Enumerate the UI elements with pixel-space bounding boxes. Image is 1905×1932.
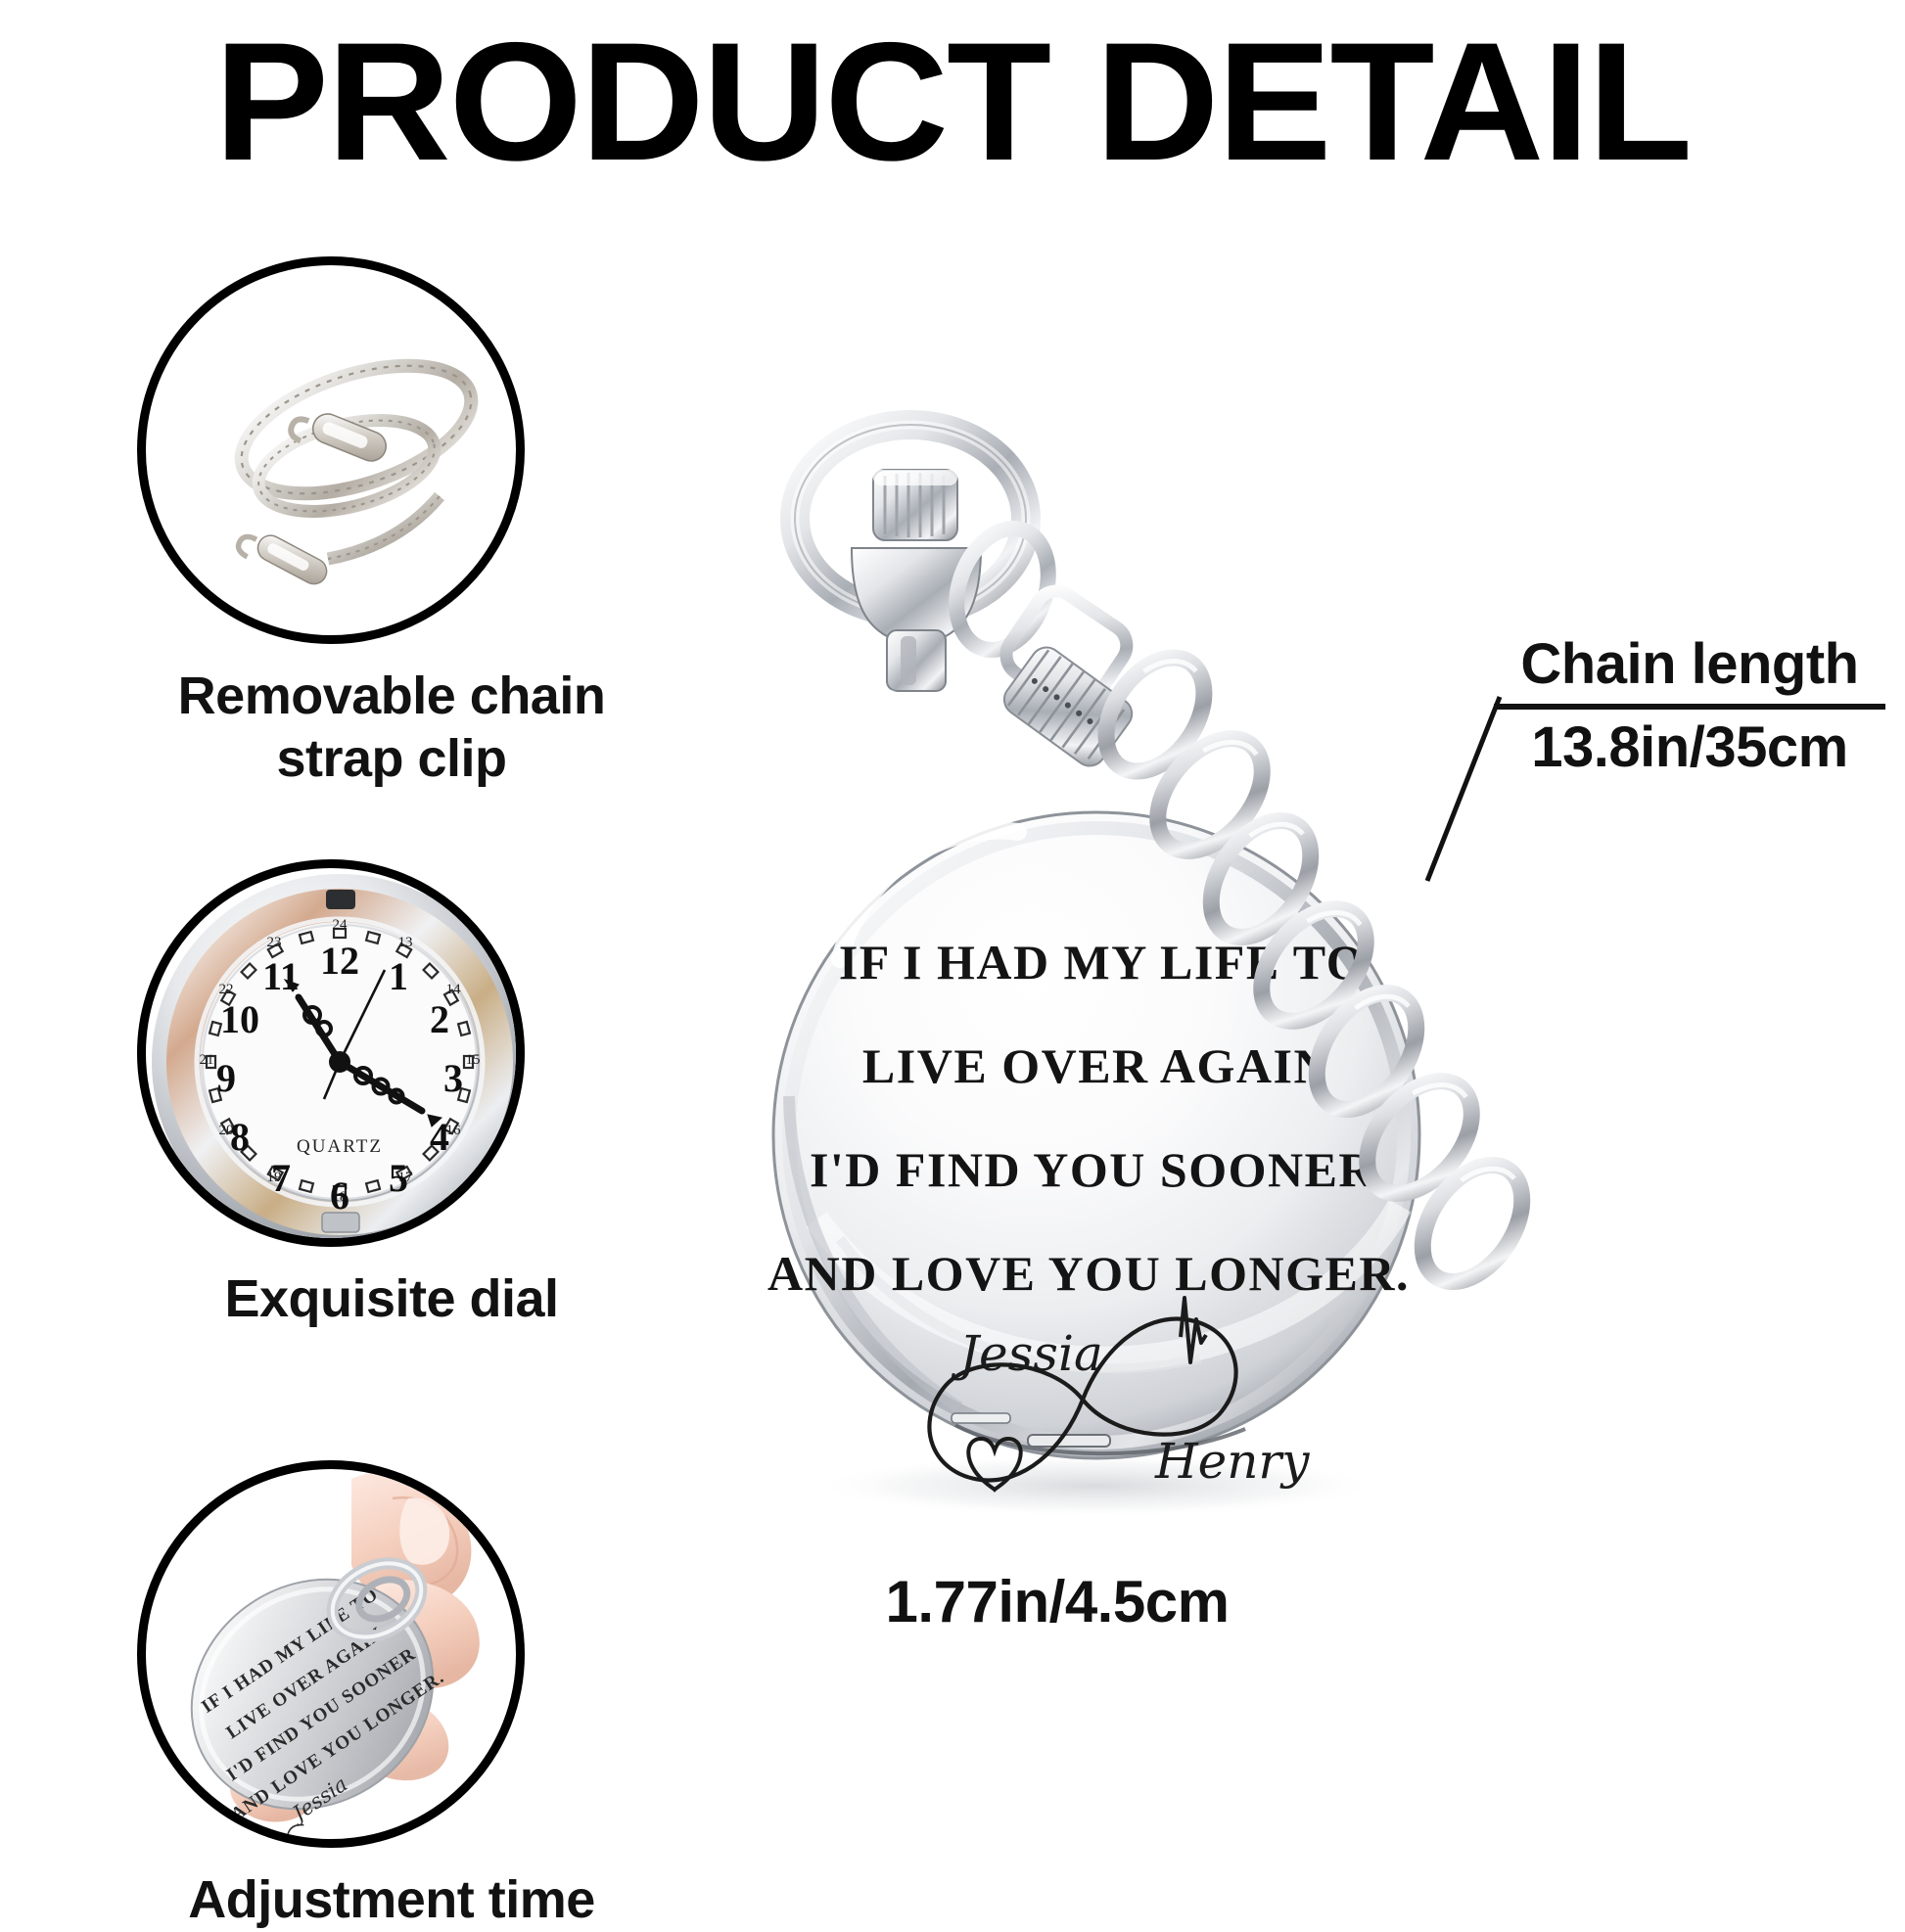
engraved-name-left: Jessia <box>951 1325 1103 1382</box>
svg-text:3: 3 <box>443 1056 463 1100</box>
product-image-pocket-watch: IF I HAD MY LIFE TO LIVE OVER AGAIN I'D … <box>607 411 1684 1517</box>
svg-text:8: 8 <box>230 1115 250 1159</box>
product-detail-page: PRODUCT DETAIL <box>0 0 1905 1905</box>
svg-text:23: 23 <box>267 935 282 950</box>
dial-brand-text: QUARTZ <box>297 1136 383 1157</box>
callout-leader-line <box>1410 685 1605 900</box>
svg-text:24: 24 <box>333 917 348 933</box>
hand-holding-watch-icon: IF I HAD MY LIFE TO LIVE OVER AGAIN I'D … <box>137 1460 525 1848</box>
svg-text:5: 5 <box>389 1156 408 1200</box>
engraving-line-3: I'D FIND YOU SOONER <box>810 1142 1375 1197</box>
feature-caption-line1: Adjustment time <box>78 1869 705 1932</box>
svg-text:1: 1 <box>389 954 408 998</box>
svg-text:21: 21 <box>200 1052 214 1068</box>
dimension-case-diameter: 1.77in/4.5cm <box>744 1568 1371 1635</box>
feature-removable-chain-strap-clip: Removable chain strap clip <box>137 256 525 644</box>
engraving-line-4: AND LOVE YOU LONGER. <box>767 1246 1410 1301</box>
svg-text:2: 2 <box>430 997 449 1041</box>
svg-text:12: 12 <box>320 939 359 983</box>
engraved-name-right: Henry <box>1154 1433 1310 1490</box>
watch-crown <box>873 470 957 540</box>
svg-text:14: 14 <box>446 982 462 997</box>
feature-adjustment-time: IF I HAD MY LIFE TO LIVE OVER AGAIN I'D … <box>137 1460 525 1848</box>
svg-text:15: 15 <box>466 1052 481 1068</box>
page-title: PRODUCT DETAIL <box>0 18 1905 186</box>
svg-text:7: 7 <box>271 1156 291 1200</box>
watch-dial-illustration: 24 13 14 15 16 17 18 19 20 21 22 23 12 1 <box>146 868 525 1247</box>
svg-text:10: 10 <box>220 997 259 1041</box>
feature-caption: Adjustment time <box>78 1869 705 1932</box>
svg-text:11: 11 <box>262 954 300 998</box>
svg-text:9: 9 <box>216 1056 236 1100</box>
chain-coil-icon <box>137 256 525 644</box>
svg-text:13: 13 <box>398 935 413 950</box>
watch-dial-icon: 24 13 14 15 16 17 18 19 20 21 22 23 12 1 <box>137 859 525 1247</box>
svg-text:6: 6 <box>330 1173 349 1218</box>
svg-text:22: 22 <box>219 982 234 997</box>
chain-coil-illustration <box>146 265 525 644</box>
hand-holding-watch-illustration: IF I HAD MY LIFE TO LIVE OVER AGAIN I'D … <box>146 1469 525 1848</box>
feature-exquisite-dial: 24 13 14 15 16 17 18 19 20 21 22 23 12 1 <box>137 859 525 1247</box>
pocket-watch-illustration: IF I HAD MY LIFE TO LIVE OVER AGAIN I'D … <box>607 411 1684 1517</box>
engraving-line-2: LIVE OVER AGAIN <box>862 1038 1330 1093</box>
